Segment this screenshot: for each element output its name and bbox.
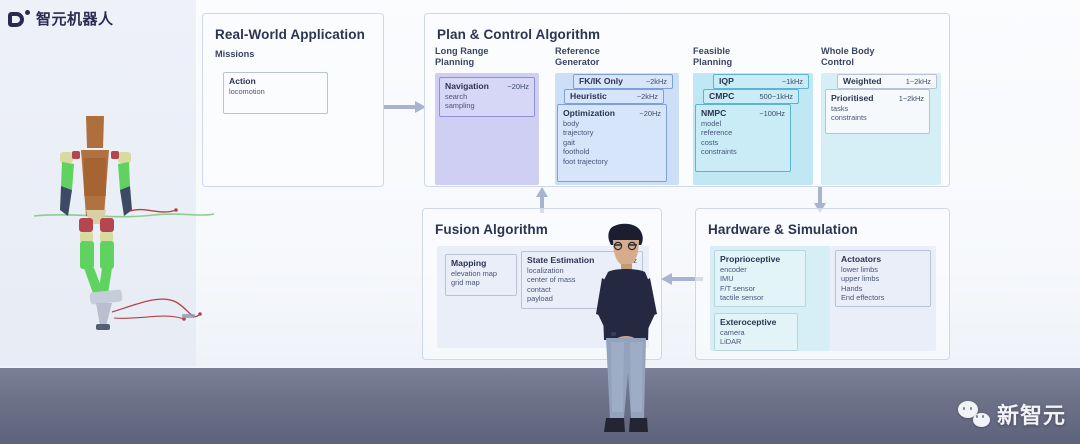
wechat-icon: [958, 401, 990, 427]
panel-title-real-world: Real-World Application: [215, 27, 365, 42]
arrow-real-world-to-plan: [384, 100, 428, 114]
card-navigation-items: search sampling: [445, 92, 529, 111]
list-item: encoder: [720, 265, 800, 274]
card-mapping-name: Mapping: [451, 258, 486, 268]
card-prioritised-name: Prioritised: [831, 93, 874, 103]
list-item: camera: [720, 328, 792, 337]
card-fk-ik-only[interactable]: FK/IK Only ~2kHz: [573, 74, 673, 89]
column-title-feasible-planning: Feasible Planning: [693, 46, 732, 67]
list-item: constraints: [701, 147, 785, 156]
column-whole-body-control: Whole Body Control: [821, 46, 875, 67]
list-item: model: [701, 119, 785, 128]
card-mapping[interactable]: Mapping elevation map grid map: [445, 254, 517, 296]
card-cmpc-name: CMPC: [709, 91, 734, 101]
column-reference-generator: Reference Generator: [555, 46, 600, 67]
card-proprioceptive[interactable]: Proprioceptive encoder IMU F/T sensor ta…: [714, 250, 806, 307]
list-item: F/T sensor: [720, 284, 800, 293]
list-item: Hands: [841, 284, 925, 293]
card-optimization-items: body trajectory gait foothold foot traje…: [563, 119, 661, 166]
list-item: locomotion: [229, 87, 322, 96]
column-long-range-planning: Long Range Planning: [435, 46, 489, 67]
card-nmpc[interactable]: NMPC ~100Hz model reference costs constr…: [695, 104, 791, 172]
card-nmpc-items: model reference costs constraints: [701, 119, 785, 157]
agibot-logo-icon: [8, 10, 30, 28]
card-action-items: locomotion: [229, 87, 322, 96]
list-item: grid map: [451, 278, 511, 287]
card-exteroceptive-name: Exteroceptive: [720, 317, 776, 327]
list-item: lower limbs: [841, 265, 925, 274]
list-item: costs: [701, 138, 785, 147]
card-weighted-name: Weighted: [843, 76, 882, 86]
wechat-watermark: 新智元: [958, 398, 1066, 430]
list-item: constraints: [831, 113, 924, 122]
list-item: upper limbs: [841, 274, 925, 283]
list-item: sampling: [445, 101, 529, 110]
card-heuristic-freq: ~2kHz: [637, 92, 658, 101]
stage-floor: [0, 368, 1080, 444]
column-title-whole-body-control: Whole Body Control: [821, 46, 875, 67]
panel-title-plan-control: Plan & Control Algorithm: [437, 27, 600, 42]
list-item: foothold: [563, 147, 661, 156]
column-feasible-planning: Feasible Planning: [693, 46, 732, 67]
panel-title-fusion: Fusion Algorithm: [435, 222, 548, 237]
real-world-subtitle: Missions: [215, 49, 254, 59]
card-heuristic[interactable]: Heuristic ~2kHz: [564, 89, 664, 104]
list-item: tasks: [831, 104, 924, 113]
card-prioritised[interactable]: Prioritised 1~2kHz tasks constraints: [825, 89, 930, 134]
card-mapping-items: elevation map grid map: [451, 269, 511, 288]
list-item: search: [445, 92, 529, 101]
list-item: End effectors: [841, 293, 925, 302]
card-optimization[interactable]: Optimization ~20Hz body trajectory gait …: [557, 104, 667, 182]
presentation-stage: 智元机器人: [0, 0, 1080, 444]
card-iqp-freq: ~1kHz: [782, 77, 803, 86]
card-prioritised-freq: 1~2kHz: [899, 94, 924, 103]
card-optimization-freq: ~20Hz: [639, 109, 661, 118]
card-cmpc[interactable]: CMPC 500~1kHz: [703, 89, 799, 104]
list-item: LiDAR: [720, 337, 792, 346]
card-action-name: Action: [229, 76, 256, 86]
list-item: trajectory: [563, 128, 661, 137]
card-weighted[interactable]: Weighted 1~2kHz: [837, 74, 937, 89]
list-item: gait: [563, 138, 661, 147]
panel-hardware-simulation: Hardware & Simulation Proprioceptive enc…: [695, 208, 950, 360]
card-navigation-freq: ~20Hz: [507, 82, 529, 91]
card-iqp[interactable]: IQP ~1kHz: [713, 74, 809, 89]
card-navigation[interactable]: Navigation ~20Hz search sampling: [439, 77, 535, 117]
card-nmpc-freq: ~100Hz: [759, 109, 785, 118]
card-actuators-name: Actoators: [841, 254, 881, 264]
card-actuators-items: lower limbs upper limbs Hands End effect…: [841, 265, 925, 303]
column-title-reference-generator: Reference Generator: [555, 46, 600, 67]
column-title-long-range-planning: Long Range Planning: [435, 46, 489, 67]
brand-logo: 智元机器人: [8, 8, 114, 29]
presenter-person: [578, 222, 674, 444]
card-fk-ik-only-freq: ~2kHz: [646, 77, 667, 86]
card-heuristic-name: Heuristic: [570, 91, 607, 101]
panel-title-hardware: Hardware & Simulation: [708, 222, 858, 237]
card-prioritised-items: tasks constraints: [831, 104, 924, 123]
panel-plan-control-algorithm: Plan & Control Algorithm Long Range Plan…: [424, 13, 950, 187]
card-iqp-name: IQP: [719, 76, 734, 86]
list-item: IMU: [720, 274, 800, 283]
card-exteroceptive[interactable]: Exteroceptive camera LiDAR: [714, 313, 798, 351]
card-proprioceptive-name: Proprioceptive: [720, 254, 780, 264]
card-action[interactable]: Action locomotion: [223, 72, 328, 114]
list-item: elevation map: [451, 269, 511, 278]
card-proprioceptive-items: encoder IMU F/T sensor tactile sensor: [720, 265, 800, 303]
panel-real-world-application: Real-World Application Missions Action l…: [202, 13, 384, 187]
humanoid-robot-simulation: [34, 98, 214, 343]
watermark-text: 新智元: [997, 398, 1066, 430]
card-actuators[interactable]: Actoators lower limbs upper limbs Hands …: [835, 250, 931, 307]
list-item: foot trajectory: [563, 157, 661, 166]
card-navigation-name: Navigation: [445, 81, 489, 91]
card-optimization-name: Optimization: [563, 108, 615, 118]
list-item: body: [563, 119, 661, 128]
card-cmpc-freq: 500~1kHz: [760, 92, 794, 101]
card-nmpc-name: NMPC: [701, 108, 726, 118]
card-weighted-freq: 1~2kHz: [906, 77, 931, 86]
list-item: reference: [701, 128, 785, 137]
list-item: tactile sensor: [720, 293, 800, 302]
card-fk-ik-only-name: FK/IK Only: [579, 76, 623, 86]
card-exteroceptive-items: camera LiDAR: [720, 328, 792, 347]
brand-logo-text: 智元机器人: [36, 8, 114, 29]
